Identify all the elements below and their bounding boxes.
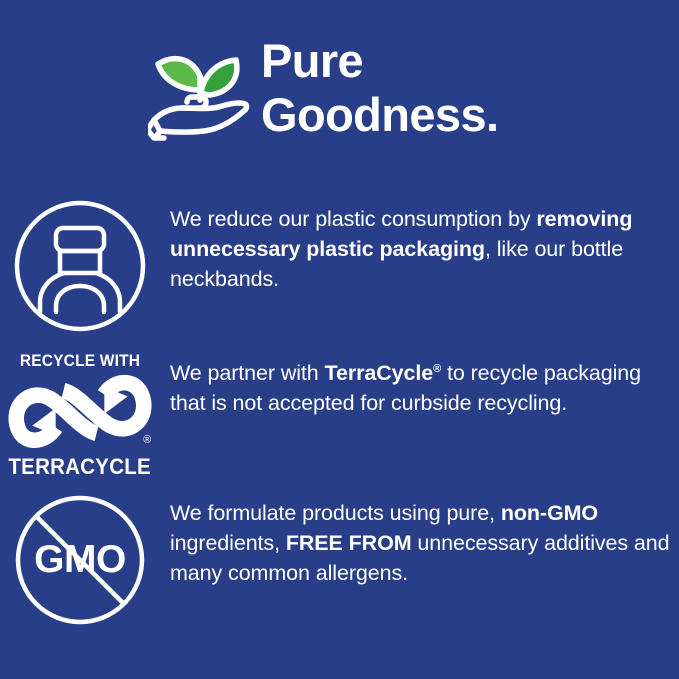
terracycle-recycle-loop-icon: ® — [7, 373, 153, 454]
no-gmo-circle-slash-icon — [14, 494, 146, 626]
feature-row-non-gmo: GMO We formulate products using pure, no… — [0, 492, 679, 642]
bottle-neckband-circle-icon — [12, 198, 148, 334]
feature-icon-container: RECYCLE WITH ® TERRACYCLE — [0, 348, 160, 479]
terracycle-logo: RECYCLE WITH ® TERRACYCLE — [5, 350, 155, 479]
terracycle-bottom-label: TERRACYCLE — [9, 455, 152, 479]
page-title: Pure Goodness. — [261, 28, 498, 142]
feature-row-plastic-reduction: We reduce our plastic consumption by rem… — [0, 196, 679, 346]
feature-icon-container: GMO — [0, 492, 160, 626]
feature-text-plastic-reduction: We reduce our plastic consumption by rem… — [160, 196, 679, 294]
feature-text-non-gmo: We formulate products using pure, non-GM… — [160, 492, 679, 588]
brand-lockup: Pure Goodness. — [148, 28, 648, 153]
terracycle-top-label: RECYCLE WITH — [20, 352, 140, 370]
hand-holding-sprout-icon — [148, 34, 252, 146]
feature-text-terracycle: We partner with TerraCycle® to recycle p… — [160, 348, 679, 418]
feature-row-terracycle: RECYCLE WITH ® TERRACYCLE — [0, 348, 679, 483]
feature-icon-container — [0, 196, 160, 334]
registered-mark: ® — [143, 434, 151, 446]
